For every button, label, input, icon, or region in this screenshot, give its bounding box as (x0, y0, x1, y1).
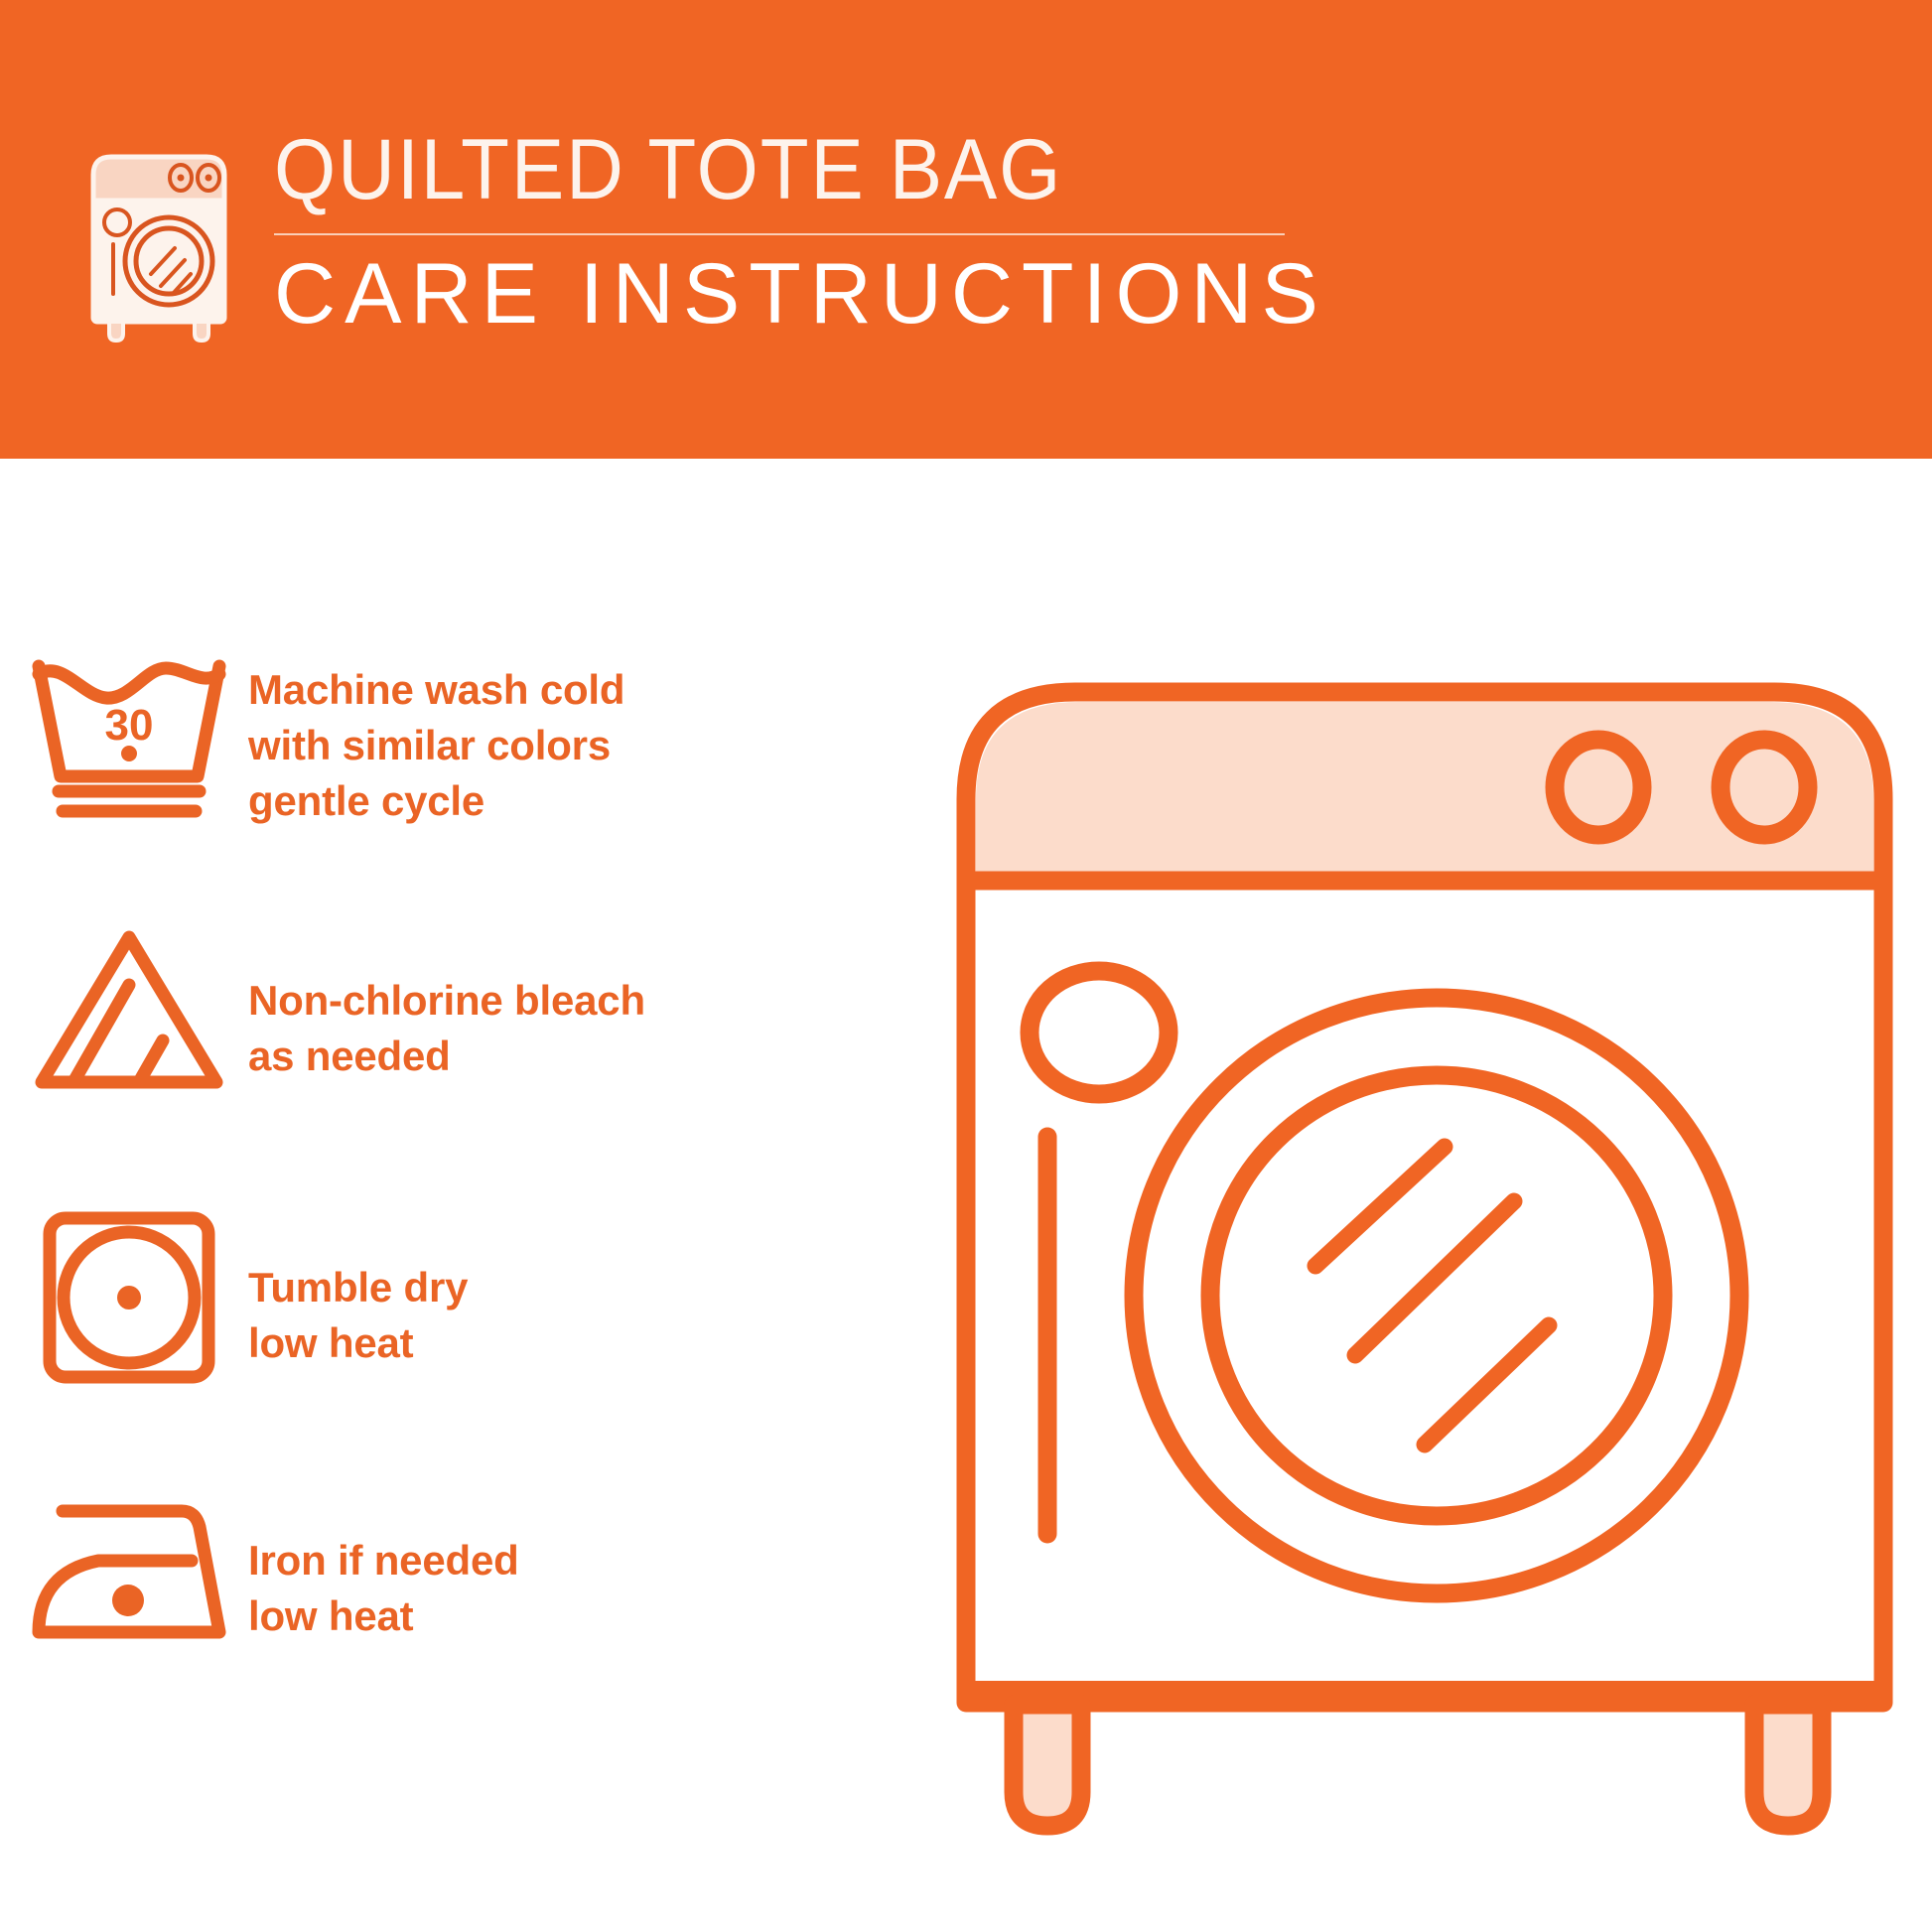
washing-machine-illustration (948, 621, 1901, 1852)
care-item-text: Non-chlorine bleach as needed (248, 925, 645, 1084)
care-item-machine-wash: 30 Machine wash cold with similar colors… (0, 652, 953, 829)
care-text-line: as needed (248, 1029, 645, 1084)
care-item-tumble-dry: Tumble dry low heat (0, 1208, 953, 1387)
machine-leg-right (1754, 1705, 1822, 1826)
control-knob-left (1555, 740, 1642, 835)
care-text-line: with similar colors (248, 718, 624, 773)
care-text-line: gentle cycle (248, 773, 624, 829)
care-text-line: Machine wash cold (248, 662, 624, 718)
care-item-text: Tumble dry low heat (248, 1208, 468, 1371)
page-title: QUILTED TOTE BAG (274, 129, 1254, 211)
care-text-line: Iron if needed (248, 1533, 519, 1588)
care-item-text: Iron if needed low heat (248, 1491, 519, 1644)
care-text-line: low heat (248, 1588, 519, 1644)
machine-leg-left (1014, 1705, 1081, 1826)
care-item-iron: Iron if needed low heat (0, 1491, 953, 1650)
page-header: QUILTED TOTE BAG CARE INSTRUCTIONS (0, 0, 1932, 459)
care-instructions-list: 30 Machine wash cold with similar colors… (0, 459, 953, 1932)
machine-wash-30-icon: 30 (0, 652, 248, 821)
header-title-group: QUILTED TOTE BAG CARE INSTRUCTIONS (274, 127, 1327, 337)
washing-machine-icon (83, 145, 234, 344)
wash-temperature-label: 30 (105, 701, 154, 750)
care-item-bleach: Non-chlorine bleach as needed (0, 925, 953, 1094)
non-chlorine-bleach-icon (0, 925, 248, 1094)
care-item-text: Machine wash cold with similar colors ge… (248, 652, 624, 829)
page-subtitle: CARE INSTRUCTIONS (274, 251, 1327, 337)
title-divider (274, 233, 1285, 235)
control-knob-right (1721, 740, 1808, 835)
tumble-dry-low-icon (0, 1208, 248, 1387)
care-text-line: low heat (248, 1315, 468, 1371)
header-content: QUILTED TOTE BAG CARE INSTRUCTIONS (83, 127, 1327, 344)
care-text-line: Tumble dry (248, 1260, 468, 1315)
care-text-line: Non-chlorine bleach (248, 973, 645, 1029)
iron-low-heat-icon (0, 1491, 248, 1650)
